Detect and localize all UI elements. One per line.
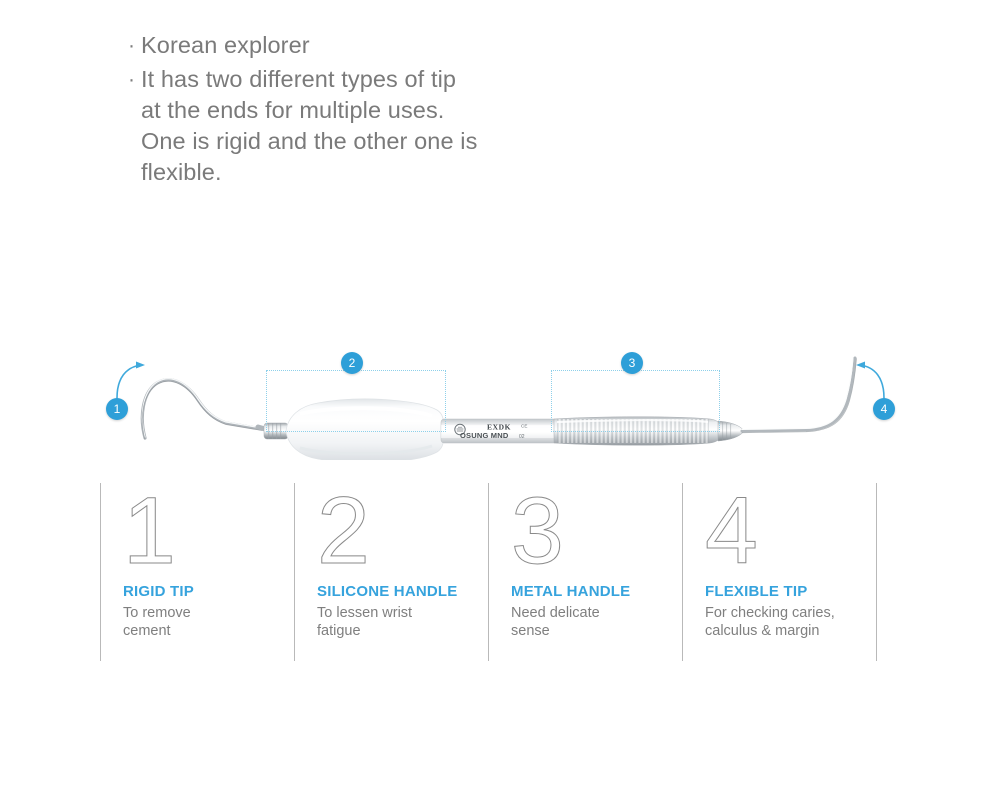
dental-explorer-illustration: EXDK OSUNG MND CE 02 [0, 330, 1000, 460]
intro-bullet-list: · Korean explorer · It has two different… [128, 30, 648, 190]
right-ferrule [718, 421, 744, 441]
brand-name-text: OSUNG MND [460, 431, 509, 440]
ce-code-text: 02 [519, 434, 525, 440]
callout-arrow-1 [117, 362, 145, 399]
list-item: · It has two different types of tip at t… [128, 64, 648, 188]
callout-badge-1[interactable]: 1 [106, 398, 128, 420]
flexible-tip-shape [742, 358, 857, 433]
legend-end-divider [876, 483, 877, 661]
legend-item-flexible-tip: 4 FLEXIBLE TIP For checking caries, calc… [682, 483, 876, 661]
callout-badge-3[interactable]: 3 [621, 352, 643, 374]
legend-desc-3: Need delicate sense [511, 604, 682, 640]
legend-desc-2: To lessen wrist fatigue [317, 604, 488, 640]
bullet-dot-icon: · [128, 64, 141, 96]
intro-bullet-text-1: Korean explorer [141, 30, 310, 61]
callout-arrow-4 [856, 362, 884, 399]
legend-title-2: SILICONE HANDLE [317, 583, 488, 600]
legend-title-1: RIGID TIP [123, 583, 294, 600]
legend-title-4: FLEXIBLE TIP [705, 583, 876, 600]
legend-desc-4: For checking caries, calculus & margin [705, 604, 876, 640]
callout-badge-4[interactable]: 4 [873, 398, 895, 420]
bullet-dot-icon: · [128, 30, 141, 62]
legend-number-1: 1 [123, 483, 294, 583]
legend-desc-1: To remove cement [123, 604, 294, 640]
highlight-box-metal-handle [551, 370, 720, 432]
highlight-box-silicone-handle [266, 370, 446, 432]
callout-badge-2[interactable]: 2 [341, 352, 363, 374]
legend-title-3: METAL HANDLE [511, 583, 682, 600]
legend-number-2: 2 [317, 483, 488, 583]
intro-bullet-text-2: It has two different types of tip at the… [141, 64, 477, 188]
legend-number-4: 4 [705, 483, 876, 583]
feature-legend: 1 RIGID TIP To remove cement 2 SILICONE … [100, 483, 900, 661]
list-item: · Korean explorer [128, 30, 648, 62]
rigid-tip-shape [142, 379, 262, 440]
ce-mark-text: CE [521, 424, 527, 429]
label-band-shaft: EXDK OSUNG MND CE 02 [441, 419, 557, 443]
legend-item-metal-handle: 3 METAL HANDLE Need delicate sense [488, 483, 682, 661]
legend-number-3: 3 [511, 483, 682, 583]
legend-item-silicone-handle: 2 SILICONE HANDLE To lessen wrist fatigu… [294, 483, 488, 661]
legend-item-rigid-tip: 1 RIGID TIP To remove cement [100, 483, 294, 661]
